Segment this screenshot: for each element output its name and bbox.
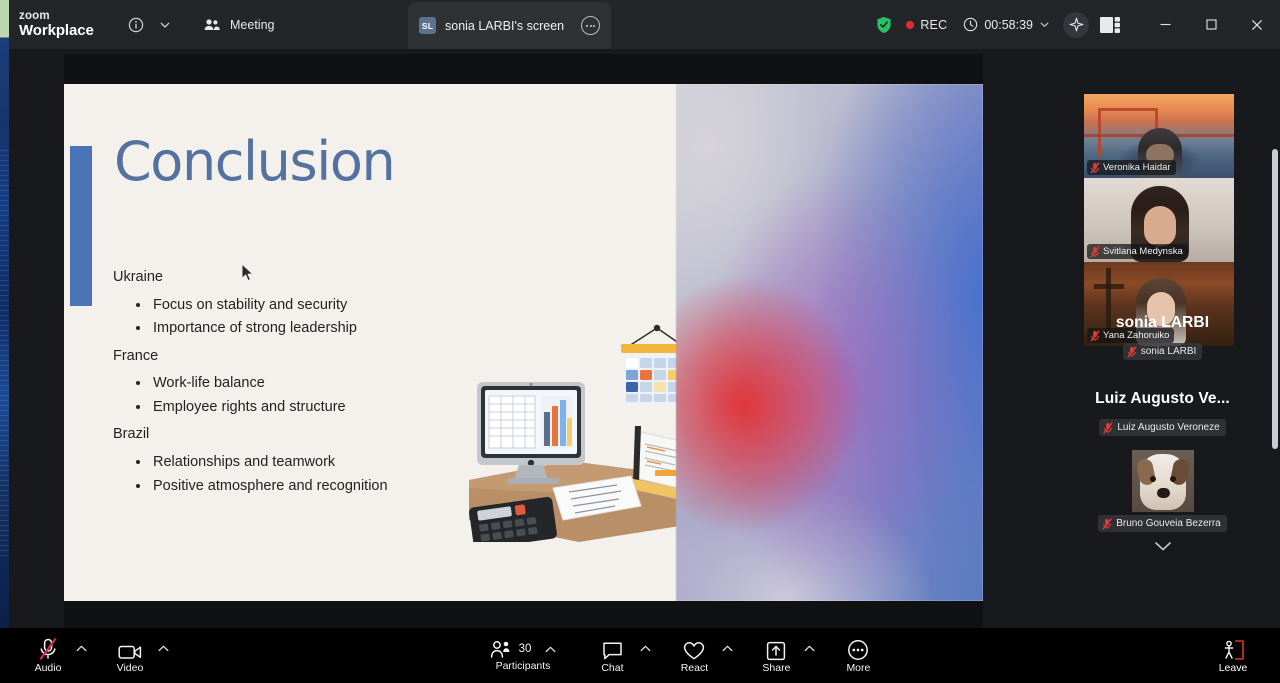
react-options-chevron-up-icon[interactable]: [720, 628, 734, 683]
meeting-tab-label: Meeting: [230, 18, 274, 32]
brand-line-workplace: Workplace: [19, 23, 107, 38]
microphone-muted-icon: [1090, 246, 1100, 258]
desktop-wallpaper-strip: [0, 0, 9, 683]
dog-eye-left: [1150, 476, 1156, 482]
participant-name: Svitlana Medynska: [1103, 246, 1183, 257]
participant-name: Luiz Augusto Veroneze: [1117, 422, 1219, 433]
recording-label: REC: [920, 18, 947, 32]
slide-title: Conclusion: [114, 130, 394, 193]
more-options-icon[interactable]: [581, 16, 600, 35]
more-dots-icon: [847, 637, 869, 661]
info-circle-icon[interactable]: [123, 12, 149, 38]
microphone-muted-icon: [1090, 162, 1100, 174]
timer-value: 00:58:39: [984, 18, 1033, 32]
brand-line-zoom: zoom: [19, 11, 107, 23]
participant-name: sonia LARBI: [1141, 346, 1197, 357]
video-tile[interactable]: Veronika Haidar: [1084, 94, 1234, 178]
participant-entry[interactable]: sonia LARBI sonia LARBI: [1045, 314, 1280, 360]
participants-video-panel: Veronika Haidar Svitlana Medynska Yana Z…: [1045, 49, 1280, 628]
mesh-gradient-panel: [676, 84, 983, 601]
leave-door-icon: [1221, 637, 1245, 661]
participant-name-pill: sonia LARBI: [1123, 343, 1203, 360]
close-icon[interactable]: [1234, 0, 1280, 49]
participant-entry[interactable]: Bruno Gouveia Bezerra: [1045, 450, 1280, 532]
microphone-muted-icon: [1103, 422, 1113, 434]
video-label: Video: [117, 663, 144, 674]
mouse-cursor: [241, 263, 254, 282]
clock-icon: [963, 17, 978, 32]
more-label: More: [846, 663, 870, 674]
slide-accent-bar: [70, 146, 92, 306]
audio-label: Audio: [35, 663, 62, 674]
participant-photo-tile: [1132, 450, 1194, 512]
video-tile-stack: Veronika Haidar Svitlana Medynska Yana Z…: [1084, 94, 1234, 346]
participants-count: 30: [519, 643, 532, 655]
share-button[interactable]: Share: [750, 628, 802, 683]
participants-label: Participants: [496, 661, 551, 672]
recording-indicator[interactable]: REC: [906, 18, 947, 32]
view-layout-icon[interactable]: [1100, 17, 1120, 33]
audio-options-chevron-up-icon[interactable]: [74, 628, 88, 683]
video-button[interactable]: Video: [104, 628, 156, 683]
video-tile[interactable]: Svitlana Medynska: [1084, 178, 1234, 262]
chat-button[interactable]: Chat: [586, 628, 638, 683]
tile-name-label: Veronika Haidar: [1087, 160, 1176, 175]
avatar-initials: SL: [419, 17, 436, 34]
participant-name-pill: Luiz Augusto Veroneze: [1099, 419, 1225, 436]
meeting-tab[interactable]: Meeting: [203, 18, 274, 32]
chat-label: Chat: [601, 663, 623, 674]
participants-group-icon: [203, 18, 221, 32]
participant-display-name: sonia LARBI: [1045, 314, 1280, 332]
microphone-muted-icon: [1102, 518, 1112, 530]
presentation-slide[interactable]: Conclusion Ukraine Focus on stability an…: [64, 84, 983, 601]
participant-name: Veronika Haidar: [1103, 162, 1171, 173]
slide-content-area: Conclusion Ukraine Focus on stability an…: [64, 84, 676, 601]
ai-companion-sparkle-icon[interactable]: [1063, 12, 1089, 38]
microphone-muted-icon: [1127, 346, 1137, 358]
panel-scrollbar[interactable]: [1272, 149, 1278, 449]
audio-only-participant-list: sonia LARBI sonia LARBI Luiz Augusto Ve.…: [1045, 314, 1280, 532]
dog-ear-right: [1169, 458, 1190, 487]
participants-icon: [490, 640, 513, 659]
audio-button[interactable]: Audio: [22, 628, 74, 683]
meeting-controls-toolbar: Audio Video 30: [0, 628, 1280, 683]
microphone-muted-icon: [37, 637, 59, 661]
titlebar-right-controls: REC 00:58:39: [876, 0, 1280, 49]
dog-nose: [1157, 488, 1170, 498]
bullet-item: Focus on stability and security: [151, 294, 593, 317]
scroll-down-button[interactable]: [1137, 536, 1189, 556]
more-button[interactable]: More: [832, 628, 884, 683]
dog-eye-right: [1170, 476, 1176, 482]
share-screen-tab[interactable]: SL sonia LARBI's screen: [408, 2, 611, 49]
react-label: React: [681, 663, 708, 674]
participants-button[interactable]: 30 Participants: [490, 628, 557, 683]
chat-options-chevron-up-icon[interactable]: [638, 628, 652, 683]
zoom-workplace-logo: zoom Workplace: [19, 11, 107, 38]
heart-icon: [683, 637, 705, 661]
shared-screen-stage: Conclusion Ukraine Focus on stability an…: [9, 49, 1040, 628]
recording-dot-icon: [906, 21, 914, 29]
meeting-timer[interactable]: 00:58:39: [963, 17, 1050, 32]
participant-name: Bruno Gouveia Bezerra: [1116, 518, 1221, 529]
participants-options-chevron-up-icon[interactable]: [545, 646, 556, 653]
react-button[interactable]: React: [668, 628, 720, 683]
dog-ear-left: [1135, 458, 1156, 487]
tile-name-label: Svitlana Medynska: [1087, 244, 1188, 259]
participant-name-pill: Bruno Gouveia Bezerra: [1098, 515, 1227, 532]
minimize-icon[interactable]: [1142, 0, 1188, 49]
zoom-meeting-window: zoom Workplace Meeting SL sonia LARBI's …: [0, 0, 1280, 683]
leave-button[interactable]: Leave: [1204, 628, 1262, 683]
participant-entry[interactable]: Luiz Augusto Ve... Luiz Augusto Veroneze: [1045, 390, 1280, 436]
maximize-icon[interactable]: [1188, 0, 1234, 49]
titlebar-chevron-down-icon[interactable]: [155, 12, 175, 38]
participant-display-name: Luiz Augusto Ve...: [1045, 390, 1280, 408]
leave-label: Leave: [1219, 663, 1248, 674]
share-screen-icon: [766, 637, 786, 661]
video-options-chevron-up-icon[interactable]: [156, 628, 170, 683]
window-title-bar: zoom Workplace Meeting SL sonia LARBI's …: [9, 0, 1280, 49]
section-heading: Ukraine: [113, 267, 593, 289]
timer-chevron-down-icon: [1039, 19, 1050, 30]
camera-icon: [118, 637, 142, 661]
chat-bubble-icon: [602, 637, 623, 661]
share-label: Share: [762, 663, 790, 674]
shield-check-icon[interactable]: [876, 16, 892, 34]
share-tab-title: sonia LARBI's screen: [445, 19, 572, 33]
share-options-chevron-up-icon[interactable]: [802, 628, 816, 683]
